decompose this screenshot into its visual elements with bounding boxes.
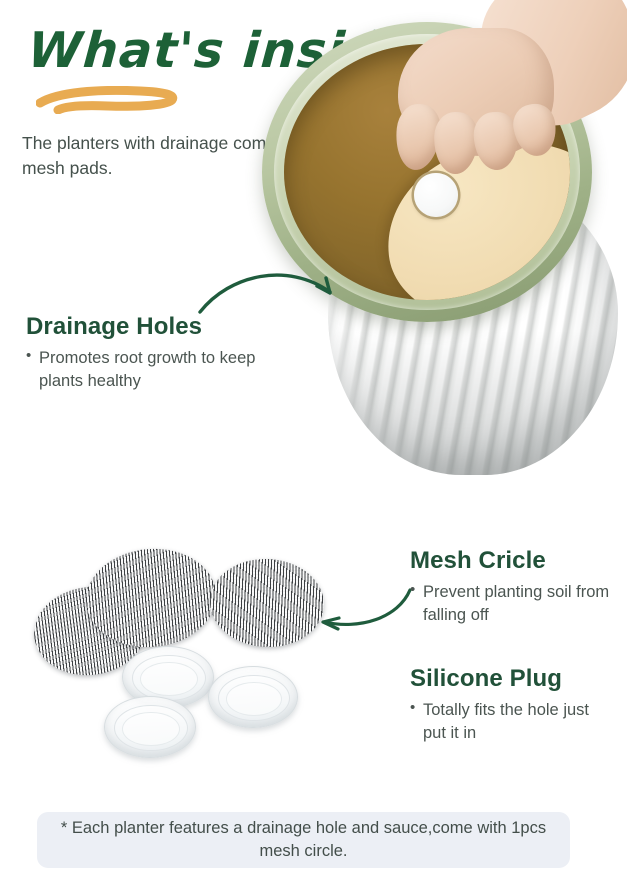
list-item: Promotes root growth to keep plants heal…	[26, 347, 286, 393]
curved-arrow-left-icon	[312, 584, 416, 640]
footer-note-box: * Each planter features a drainage hole …	[37, 812, 570, 868]
silicone-plug-heading: Silicone Plug	[410, 665, 615, 693]
finger	[433, 111, 479, 174]
brush-swoosh-underline-icon	[36, 86, 182, 114]
silicone-plug	[104, 696, 196, 758]
hand-holding-pot	[390, 0, 627, 196]
mesh-circle	[208, 556, 326, 650]
silicone-plug-section: Silicone Plug Totally fits the hole just…	[410, 665, 615, 745]
mesh-circle-heading: Mesh Cricle	[410, 547, 610, 575]
silicone-plugs-image	[100, 640, 305, 760]
drainage-holes-bullets: Promotes root growth to keep plants heal…	[26, 347, 286, 393]
footer-note-text: * Each planter features a drainage hole …	[37, 817, 570, 864]
drainage-holes-section: Drainage Holes Promotes root growth to k…	[26, 313, 286, 393]
mesh-circle-bullets: Prevent planting soil from falling off	[410, 581, 610, 627]
mesh-circle-section: Mesh Cricle Prevent planting soil from f…	[410, 547, 610, 627]
planter-photo	[240, 0, 627, 500]
silicone-plug-bullets: Totally fits the hole just put it in	[410, 699, 615, 745]
silicone-plug	[208, 666, 298, 728]
infographic-page: What's inside? The planters with drainag…	[0, 0, 627, 879]
drainage-holes-heading: Drainage Holes	[26, 313, 286, 341]
list-item: Prevent planting soil from falling off	[410, 581, 610, 627]
list-item: Totally fits the hole just put it in	[410, 699, 615, 745]
